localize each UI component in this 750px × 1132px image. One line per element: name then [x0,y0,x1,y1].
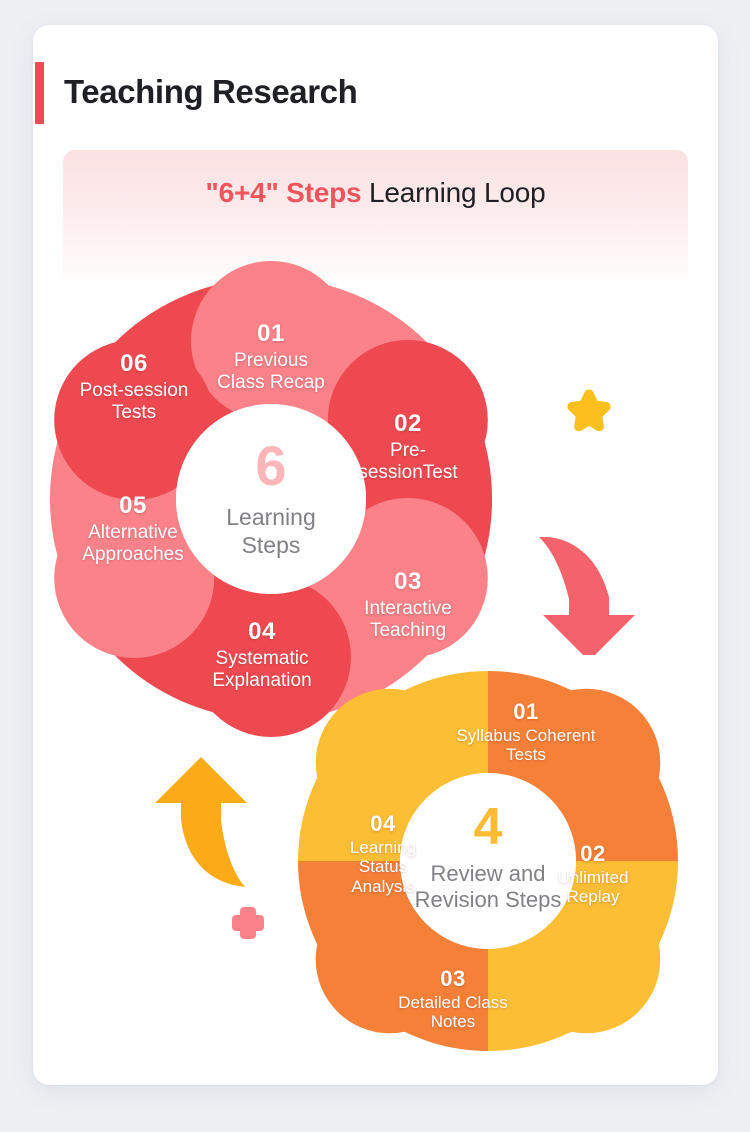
infographic-page: Teaching Research "6+4" Steps Learning L… [0,0,750,1132]
diagram-stage: 6 Learning Steps 01 Previous Class Recap… [33,25,718,1085]
wheel-review-revision: 4 Review and Revision Steps 01 Syllabus … [298,671,678,1051]
star-icon [561,383,617,439]
plus-icon [228,903,268,943]
hub-number: 6 [146,438,396,494]
hub-review-revision: 4 Review and Revision Steps [333,801,643,914]
arrow-down-icon [531,505,651,655]
hub-learning-steps: 6 Learning Steps [146,438,396,559]
hub-caption-line1: Review and [333,861,643,887]
wheel-learning-steps: 6 Learning Steps 01 Previous Class Recap… [50,278,492,720]
hub-caption-line1: Learning [146,504,396,532]
content-card: Teaching Research "6+4" Steps Learning L… [33,25,718,1085]
hub-number: 4 [333,801,643,853]
hub-caption-line2: Revision Steps [333,887,643,913]
arrow-up-icon [123,745,263,905]
hub-caption-line2: Steps [146,532,396,560]
